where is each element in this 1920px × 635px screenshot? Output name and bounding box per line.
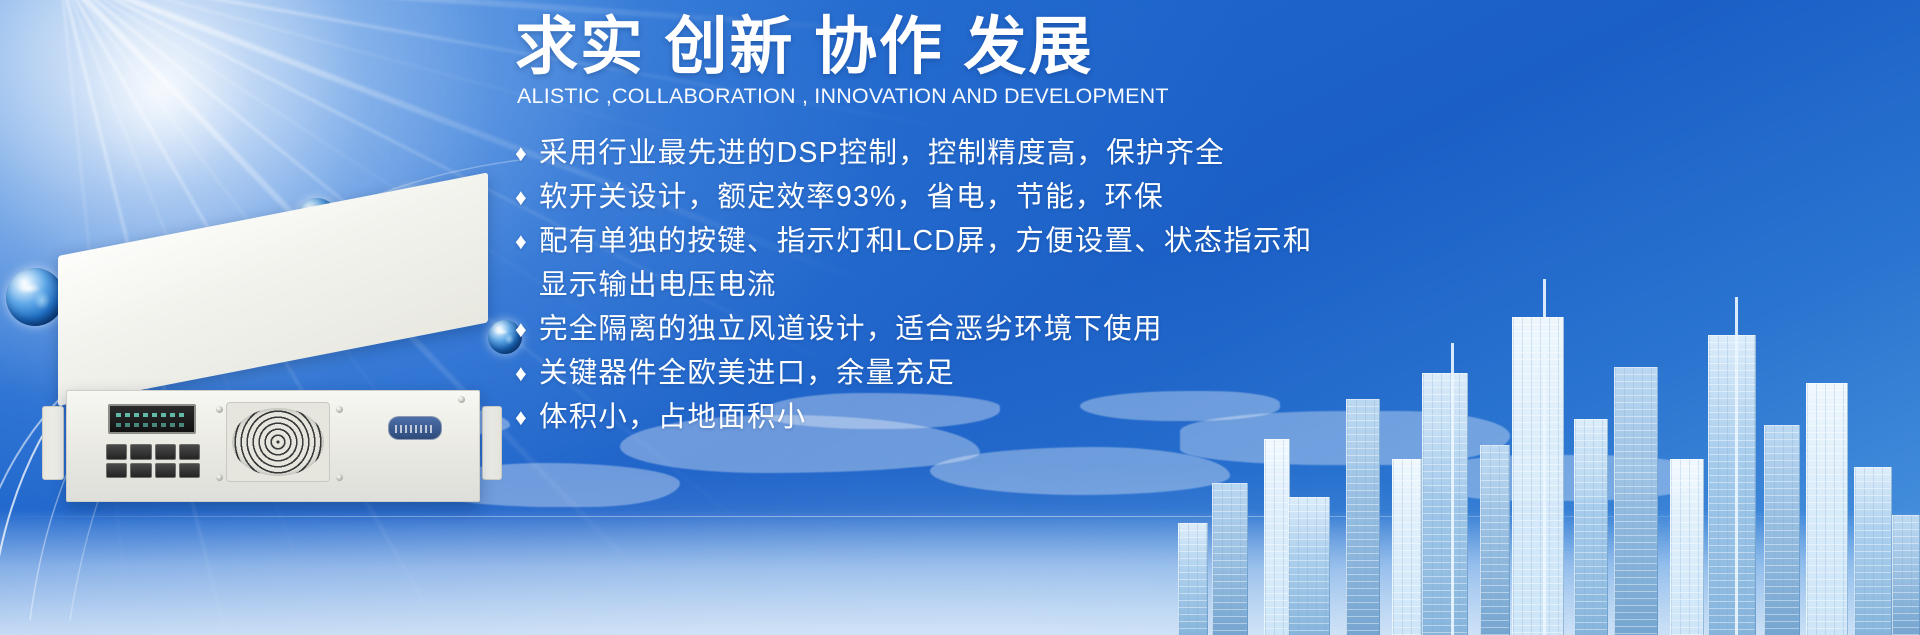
list-item-label: 关键器件全欧美进口，余量充足 xyxy=(539,351,1465,395)
device-handle-left xyxy=(42,406,64,480)
list-item-label: 配有单独的按键、指示灯和LCD屏，方便设置、状态指示和 xyxy=(539,219,1465,263)
text-block: 求实 创新 协作 发展 ALISTIC ,COLLABORATION , INN… xyxy=(515,14,1465,439)
list-item-label: 采用行业最先进的DSP控制，控制精度高，保护齐全 xyxy=(539,131,1465,175)
headline: 求实 创新 协作 发展 xyxy=(515,14,1465,80)
list-item: ♦ 软开关设计，额定效率93%，省电，节能，环保 xyxy=(515,175,1465,219)
list-item: ♦ 完全隔离的独立风道设计，适合恶劣环境下使用 xyxy=(515,307,1465,351)
list-item: ♦ 配有单独的按键、指示灯和LCD屏，方便设置、状态指示和 xyxy=(515,219,1465,263)
device-handle-right xyxy=(482,406,502,480)
fan-vent xyxy=(226,402,330,482)
list-item-label: 完全隔离的独立风道设计，适合恶劣环境下使用 xyxy=(539,307,1465,351)
diamond-bullet-icon: ♦ xyxy=(515,307,539,351)
ground-fade xyxy=(0,510,1920,635)
feature-list: ♦ 采用行业最先进的DSP控制，控制精度高，保护齐全 ♦ 软开关设计，额定效率9… xyxy=(515,131,1465,439)
lcd-screen xyxy=(108,404,196,434)
diamond-bullet-icon: ♦ xyxy=(515,395,539,439)
diamond-bullet-icon: ♦ xyxy=(515,219,539,263)
diamond-bullet-icon: ♦ xyxy=(515,351,539,395)
globe-marble xyxy=(6,268,64,326)
screw-icon xyxy=(458,396,465,403)
list-item-label: 软开关设计，额定效率93%，省电，节能，环保 xyxy=(539,175,1465,219)
device-top-panel xyxy=(58,172,488,406)
subheadline: ALISTIC ,COLLABORATION , INNOVATION AND … xyxy=(517,84,1465,109)
screw-icon xyxy=(336,474,343,481)
keypad xyxy=(106,444,200,478)
screw-icon xyxy=(216,474,223,481)
screw-icon xyxy=(216,406,223,413)
screw-icon xyxy=(336,406,343,413)
list-item-label: 显示输出电压电流 xyxy=(539,263,1465,307)
promo-banner: 求实 创新 协作 发展 ALISTIC ,COLLABORATION , INN… xyxy=(0,0,1920,635)
list-item-continuation: ♦ 显示输出电压电流 xyxy=(515,263,1465,307)
list-item: ♦ 关键器件全欧美进口，余量充足 xyxy=(515,351,1465,395)
list-item: ♦ 采用行业最先进的DSP控制，控制精度高，保护齐全 xyxy=(515,131,1465,175)
diamond-bullet-icon: ♦ xyxy=(515,175,539,219)
list-item: ♦ 体积小，占地面积小 xyxy=(515,395,1465,439)
diamond-bullet-icon: ♦ xyxy=(515,131,539,175)
list-item-label: 体积小，占地面积小 xyxy=(539,395,1465,439)
rack-mount-power-supply xyxy=(58,256,488,516)
db9-connector xyxy=(388,416,442,440)
